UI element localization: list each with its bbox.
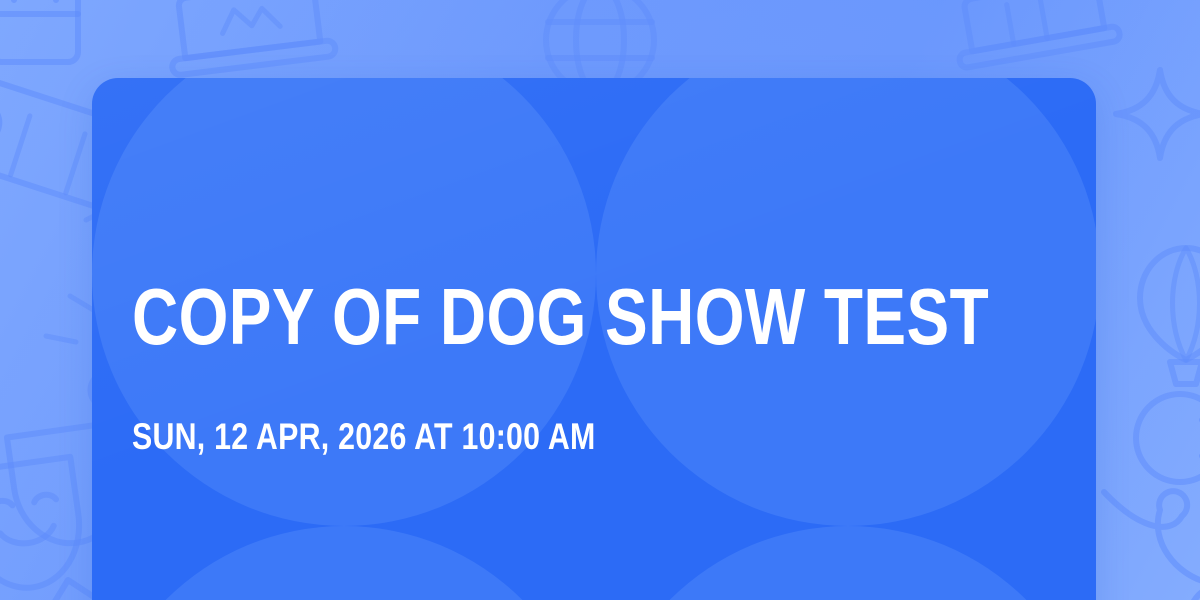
- sparkle-icon: [1108, 60, 1200, 170]
- event-datetime: Sun, 12 Apr, 2026 at 10:00 AM: [132, 414, 596, 460]
- hot-air-balloon-icon: [1120, 236, 1200, 426]
- card-content: Copy of Dog Show Test Sun, 12 Apr, 2026 …: [132, 78, 1056, 600]
- clapperboard-icon: [940, 0, 1130, 76]
- calendar-icon: [0, 0, 100, 80]
- event-card: Copy of Dog Show Test Sun, 12 Apr, 2026 …: [92, 78, 1096, 600]
- event-banner: Copy of Dog Show Test Sun, 12 Apr, 2026 …: [0, 0, 1200, 600]
- event-title: Copy of Dog Show Test: [132, 274, 989, 360]
- ferris-wheel-icon: [1128, 392, 1200, 532]
- megaphone-icon: [1098, 478, 1200, 600]
- laptop-icon: [150, 0, 350, 82]
